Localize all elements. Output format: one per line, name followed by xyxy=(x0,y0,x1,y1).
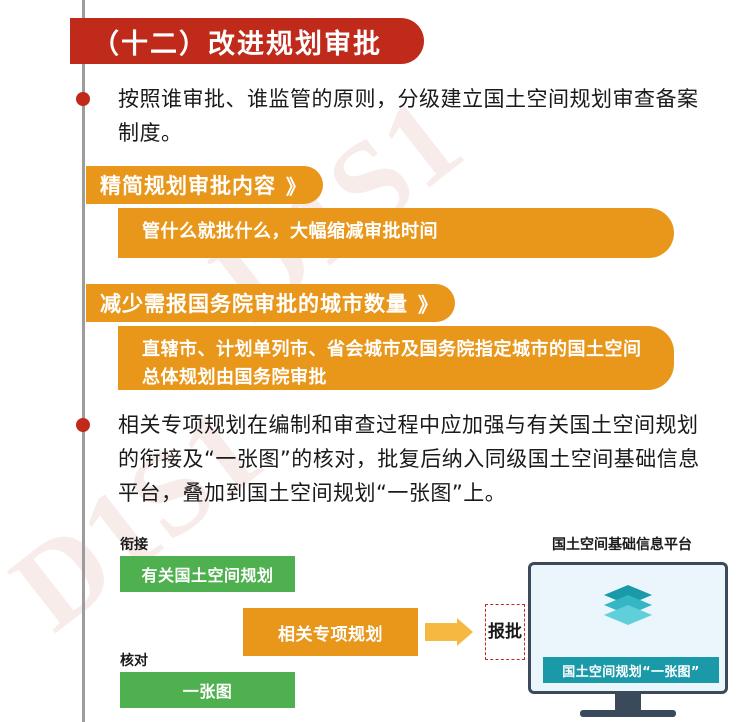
card-1-heading-text: 精简规划审批内容 xyxy=(100,170,276,200)
diagram-box-special-plan: 相关专项规划 xyxy=(243,608,418,656)
process-diagram: 衔接 有关国土空间规划 相关专项规划 核对 一张图 报批 批复 国土空间基础信息… xyxy=(0,520,750,722)
section-header-banner: （十二）改进规划审批 xyxy=(70,18,424,64)
diagram-box-related-plan: 有关国土空间规划 xyxy=(120,556,295,592)
chevron-right-icon-2: 》 xyxy=(418,289,439,318)
monitor-stand-neck xyxy=(615,694,641,710)
chevron-right-icon: 》 xyxy=(286,171,307,200)
page-title: （十二）改进规划审批 xyxy=(92,22,382,61)
bullet-marker-2 xyxy=(76,418,90,432)
arrow-shaft xyxy=(425,623,457,641)
card-1-heading: 精简规划审批内容 》 xyxy=(86,166,323,204)
bullet-marker-1 xyxy=(76,92,90,106)
diagram-label-check: 核对 xyxy=(120,650,148,670)
card-2-body: 直辖市、计划单列市、省会城市及国务院指定城市的国土空间总体规划由国务院审批 xyxy=(118,326,674,390)
layers-icon xyxy=(600,581,656,629)
paragraph-1: 按照谁审批、谁监管的原则，分级建立国土空间规划审查备案制度。 xyxy=(118,82,708,150)
monitor-stand-base xyxy=(580,710,676,717)
monitor-frame: 国土空间规划“一张图” xyxy=(528,562,728,694)
diagram-box-approval: 报批 xyxy=(485,604,525,660)
card-2-heading-text: 减少需报国务院审批的城市数量 xyxy=(100,288,408,318)
diagram-label-link: 衔接 xyxy=(120,534,148,554)
card-1-body: 管什么就批什么，大幅缩减审批时间 xyxy=(118,208,674,258)
paragraph-2: 相关专项规划在编制和审查过程中应加强与有关国土空间规划的衔接及“一张图”的核对，… xyxy=(118,408,706,510)
card-2-heading: 减少需报国务院审批的城市数量 》 xyxy=(86,284,455,322)
platform-screen-label: 国土空间规划“一张图” xyxy=(543,657,719,683)
diagram-box-one-map: 一张图 xyxy=(120,672,295,708)
platform-title: 国土空间基础信息平台 xyxy=(552,534,692,554)
arrow-head-icon xyxy=(457,618,473,646)
infographic-page: （十二）改进规划审批 按照谁审批、谁监管的原则，分级建立国土空间规划审查备案制度… xyxy=(0,0,750,722)
